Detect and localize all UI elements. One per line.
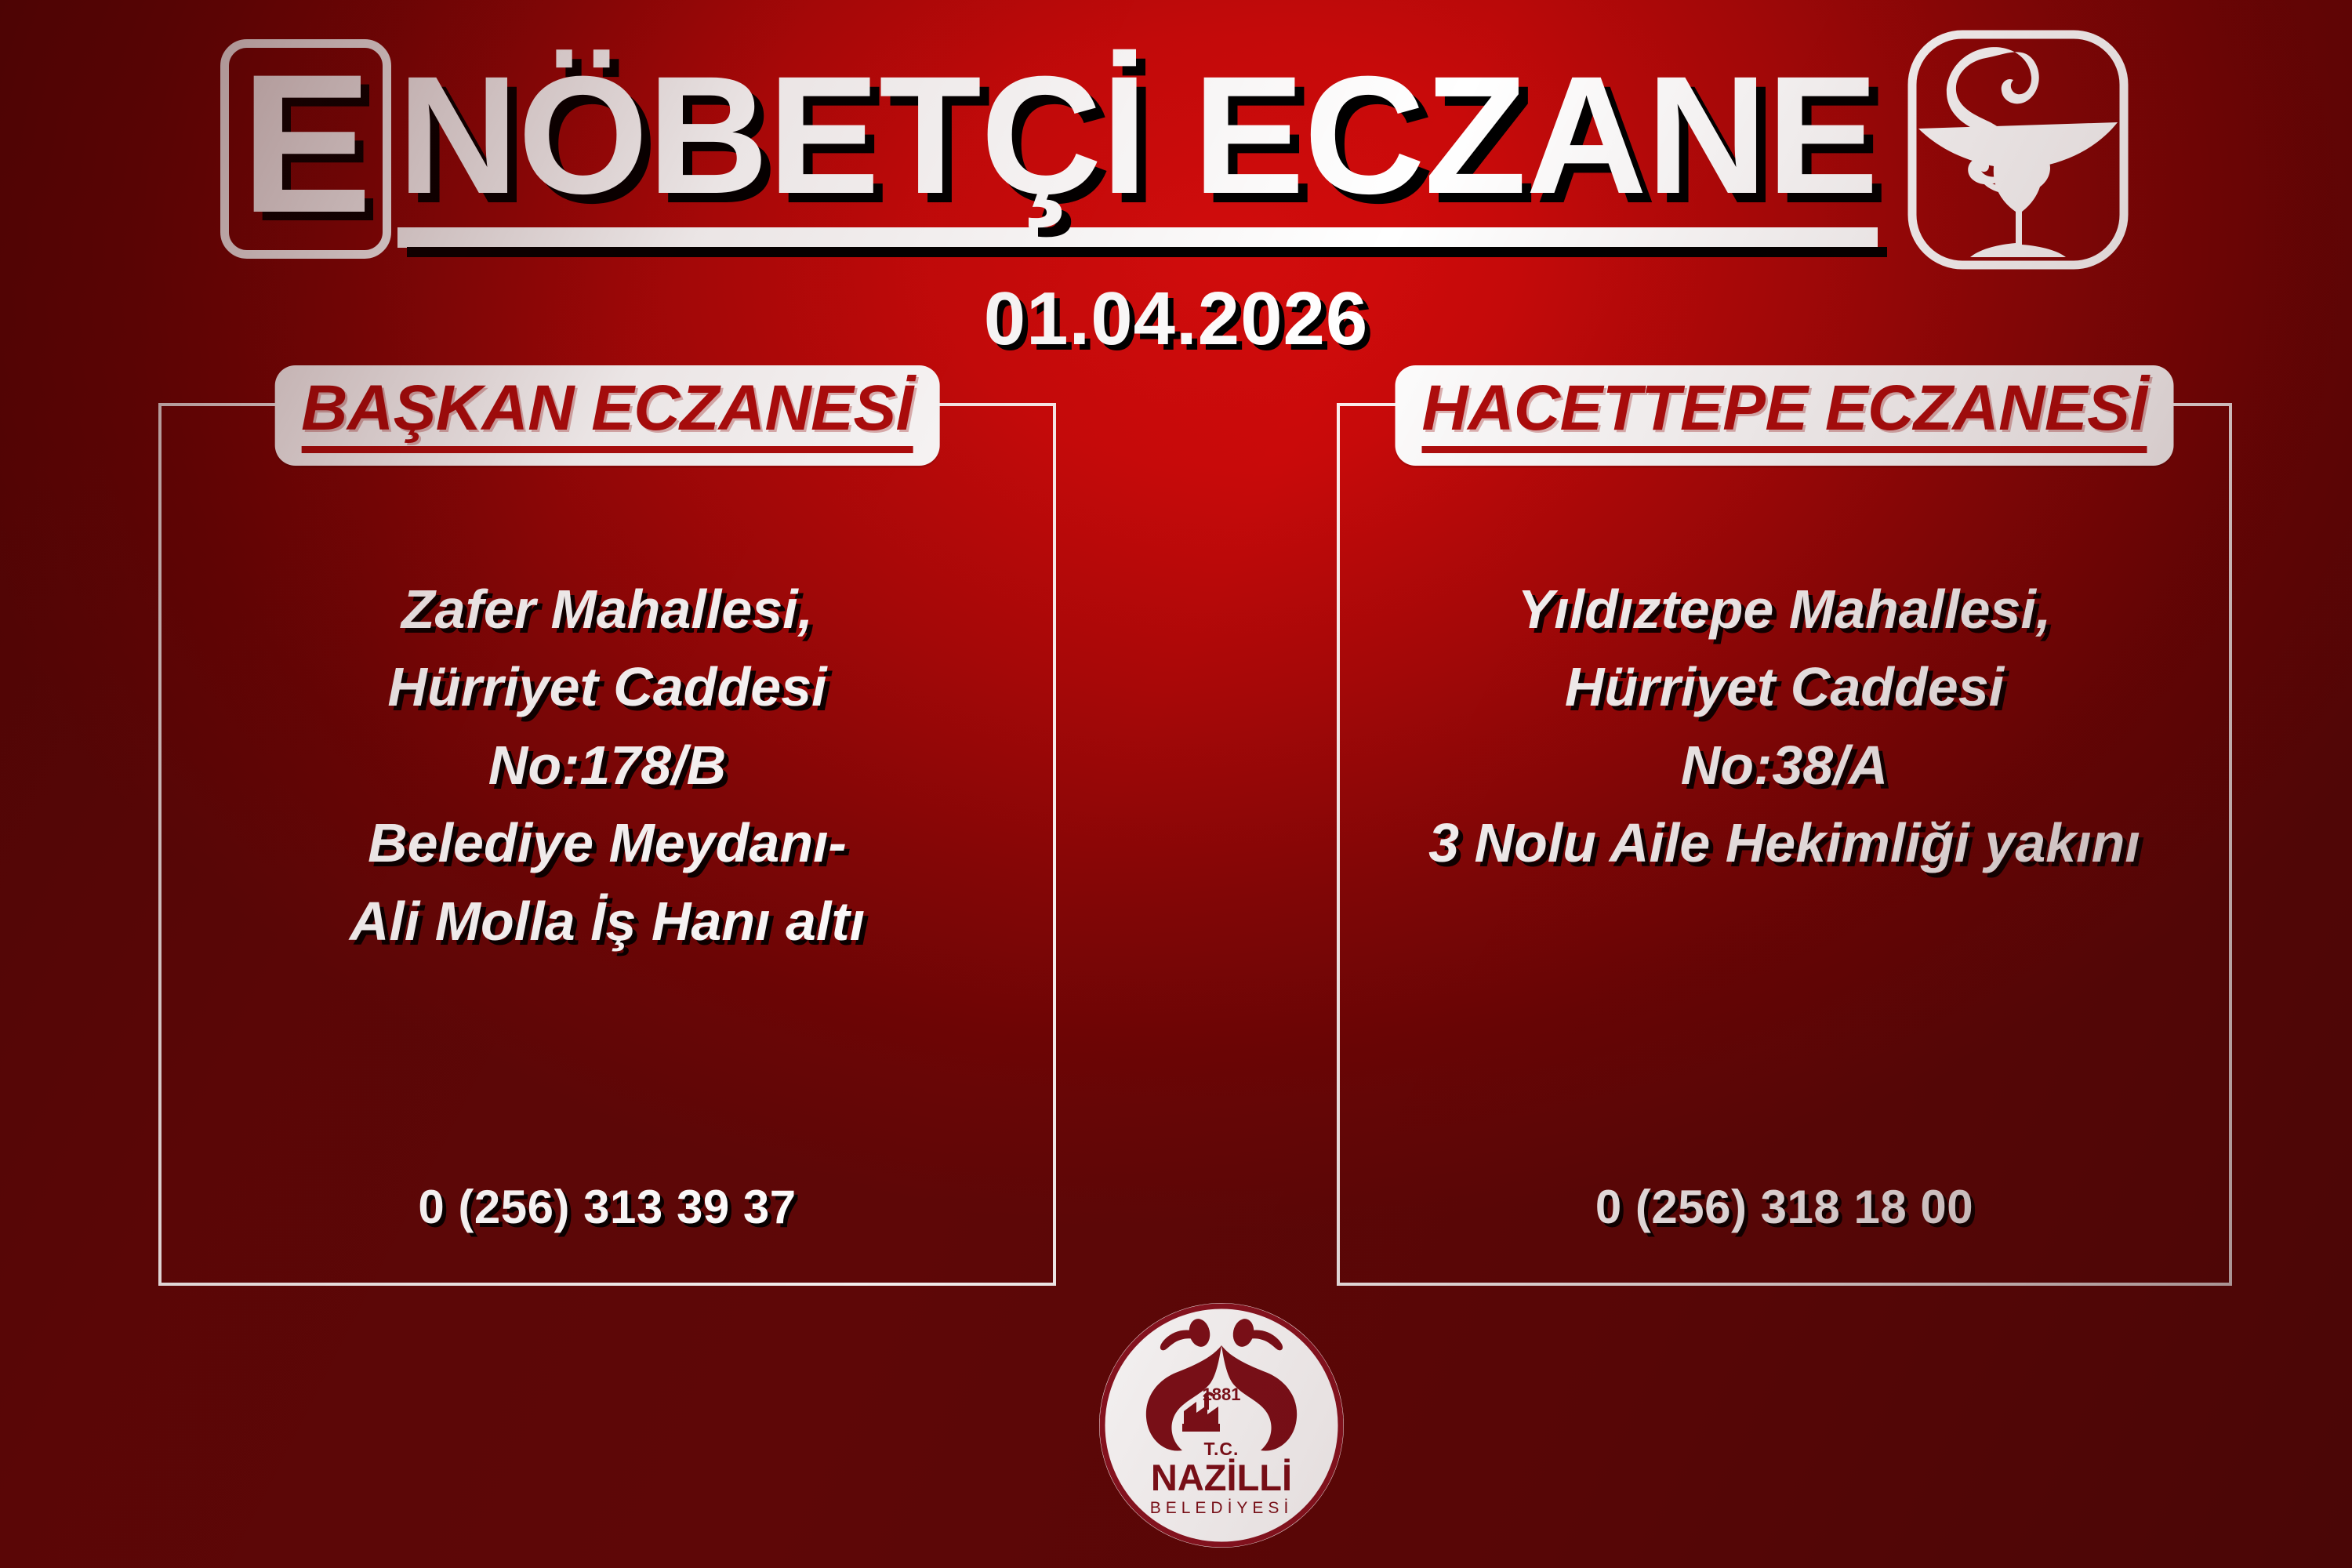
poster-canvas: E NÖBETÇİ ECZANE 01.04.2026 BAŞKAN ECZAN… (0, 0, 2352, 1568)
pharmacy-card-left: BAŞKAN ECZANESİ Zafer Mahallesi, Hürriye… (158, 403, 1056, 1286)
pharmacy-name-left: BAŞKAN ECZANESİ (301, 375, 913, 453)
pharmacy-phone-left[interactable]: 0 (256) 313 39 37 (162, 1180, 1053, 1234)
address-line: Yıldıztepe Mahallesi, (1360, 571, 2209, 648)
bowl-of-hygieia-icon (1904, 28, 2132, 271)
address-line: Belediye Meydanı- (182, 804, 1033, 882)
address-line: Ali Molla İş Hanı altı (182, 883, 1033, 960)
pharmacy-name-badge-left: BAŞKAN ECZANESİ (274, 365, 940, 466)
pharmacy-phone-right[interactable]: 0 (256) 318 18 00 (1340, 1180, 2229, 1234)
nazilli-belediyesi-logo: 1881 T.C. NAZİLLİ BELEDİYESİ (1096, 1300, 1347, 1551)
pharmacy-name-right: HACETTEPE ECZANESİ (1422, 375, 2147, 453)
pharmacy-address-left: Zafer Mahallesi, Hürriyet Caddesi No:178… (162, 571, 1053, 960)
address-line: No:178/B (182, 727, 1033, 804)
e-badge-letter: E (241, 67, 371, 222)
address-line: No:38/A (1360, 727, 2209, 804)
logo-city: NAZİLLİ (1151, 1457, 1292, 1498)
address-line: Zafer Mahallesi, (182, 571, 1033, 648)
duty-date: 01.04.2026 (0, 276, 2352, 362)
title-group: E NÖBETÇİ ECZANE (220, 27, 2132, 271)
logo-sub: BELEDİYESİ (1150, 1499, 1294, 1517)
address-line: 3 Nolu Aile Hekimliği yakını (1360, 804, 2209, 882)
page-title: NÖBETÇİ ECZANE (397, 50, 1878, 248)
e-badge: E (220, 39, 391, 259)
pharmacy-card-right: HACETTEPE ECZANESİ Yıldıztepe Mahallesi,… (1337, 403, 2232, 1286)
poster-header: E NÖBETÇİ ECZANE (0, 27, 2352, 262)
address-line: Hürriyet Caddesi (1360, 648, 2209, 726)
pharmacy-name-badge-right: HACETTEPE ECZANESİ (1396, 365, 2174, 466)
pharmacy-address-right: Yıldıztepe Mahallesi, Hürriyet Caddesi N… (1340, 571, 2229, 883)
address-line: Hürriyet Caddesi (182, 648, 1033, 726)
